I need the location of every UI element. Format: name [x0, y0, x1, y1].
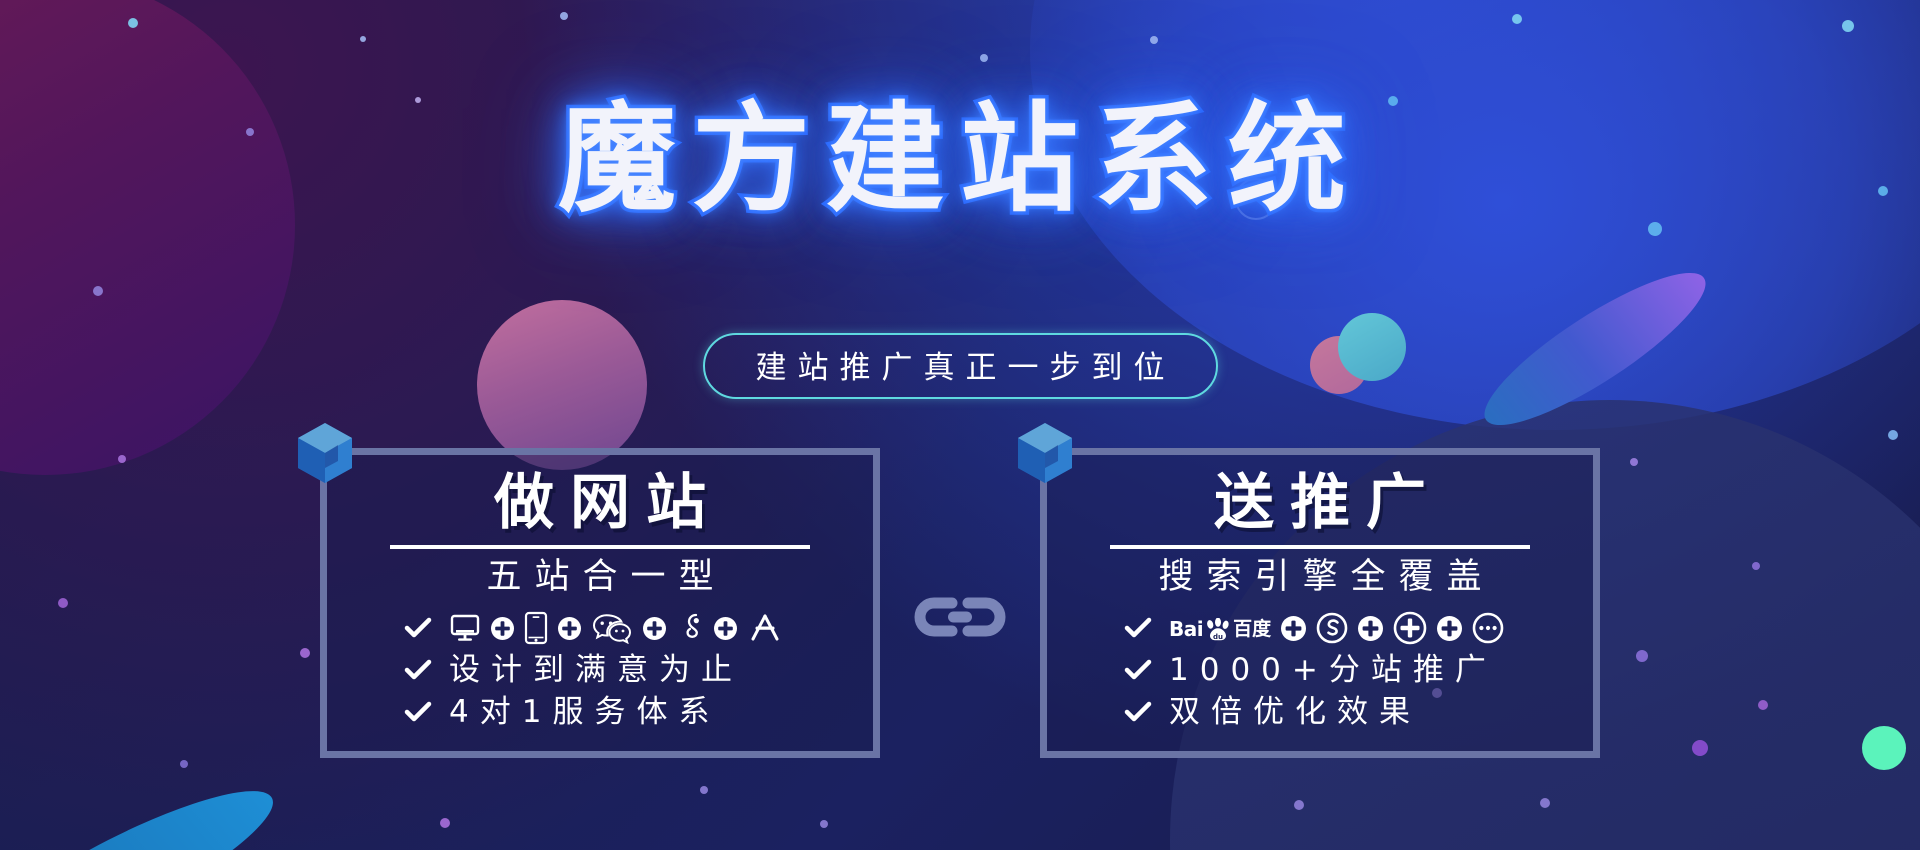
star-dot — [128, 18, 138, 28]
ellipsis-more-icon — [1472, 612, 1504, 644]
card-slot-free-promotion: 送推广 搜索引擎全覆盖 Bai — [1040, 448, 1600, 758]
check-icon — [403, 697, 433, 727]
check-icon — [1123, 697, 1153, 727]
star-dot — [700, 786, 708, 794]
card-title-make-website: 做网站 — [327, 471, 873, 536]
card-rows-make-website: 设计到满意为止 4对1服务体系 — [327, 607, 873, 733]
card-subtitle-make-website: 五站合一型 — [327, 557, 873, 597]
plus-icon — [557, 616, 582, 641]
star-dot — [820, 820, 828, 828]
row-platform-icons — [327, 607, 873, 649]
plus-icon — [490, 616, 515, 641]
bullet-text: 4对1服务体系 — [449, 697, 720, 728]
blue-comet-streak — [0, 765, 289, 850]
svg-text:du: du — [1213, 633, 1223, 641]
baidu-hanzi-text: 百度 — [1233, 620, 1271, 639]
plus-icon — [1436, 615, 1463, 642]
baidu-paw-icon: du — [1205, 618, 1231, 642]
star-dot — [1888, 430, 1898, 440]
check-icon — [403, 655, 433, 685]
promo-banner: 魔方建站系统 建站推广真正一步到位 做网站 五站合一型 — [0, 0, 1920, 850]
check-icon — [1123, 655, 1153, 685]
star-dot — [360, 36, 366, 42]
plus-icon — [642, 616, 667, 641]
star-dot — [560, 12, 568, 20]
plus-icon — [713, 616, 738, 641]
mobile-phone-icon — [524, 611, 548, 645]
wechat-icon — [591, 612, 633, 644]
feature-cards: 做网站 五站合一型 — [0, 448, 1920, 758]
search-engine-icon-group: Bai du 百度 — [1169, 611, 1504, 645]
plus-icon — [1280, 615, 1307, 642]
card-title-underline — [390, 545, 810, 549]
app-store-icon — [747, 612, 783, 644]
star-dot — [1512, 14, 1522, 24]
subtitle-pill: 建站推广真正一步到位 — [703, 333, 1218, 399]
bullet-row: 1000+分站推广 — [1047, 649, 1593, 691]
card-title-free-promotion: 送推广 — [1047, 471, 1593, 536]
bullet-row: 设计到满意为止 — [327, 649, 873, 691]
title-block: 魔方建站系统 — [0, 92, 1920, 227]
row-search-engine-icons: Bai du 百度 — [1047, 607, 1593, 649]
card-subtitle-free-promotion: 搜索引擎全覆盖 — [1047, 557, 1593, 597]
star-dot — [1150, 36, 1158, 44]
bullet-text: 设计到满意为止 — [449, 655, 743, 686]
mini-program-icon — [676, 611, 704, 645]
star-dot — [1294, 800, 1304, 810]
star-dot — [1842, 20, 1854, 32]
card-slot-make-website: 做网站 五站合一型 — [320, 448, 880, 758]
bullet-row: 4对1服务体系 — [327, 691, 873, 733]
star-dot — [1540, 798, 1550, 808]
card-make-website[interactable]: 做网站 五站合一型 — [320, 448, 880, 758]
subtitle-block: 建站推广真正一步到位 — [0, 333, 1920, 399]
bullet-row: 双倍优化效果 — [1047, 691, 1593, 733]
card-rows-free-promotion: Bai du 百度 — [1047, 607, 1593, 733]
baidu-logo-icon: Bai du 百度 — [1169, 618, 1271, 639]
circle-plus-360-icon — [1393, 611, 1427, 645]
baidu-latin-text: Bai — [1169, 619, 1203, 639]
desktop-monitor-icon — [449, 612, 481, 644]
check-icon — [403, 613, 433, 643]
star-dot — [93, 286, 103, 296]
main-title: 魔方建站系统 — [558, 92, 1362, 227]
card-free-promotion[interactable]: 送推广 搜索引擎全覆盖 Bai — [1040, 448, 1600, 758]
card-title-underline — [1110, 545, 1530, 549]
bullet-text: 1000+分站推广 — [1169, 655, 1497, 686]
bullet-text: 双倍优化效果 — [1169, 697, 1421, 728]
chain-link-icon — [908, 590, 1012, 644]
star-dot — [980, 54, 988, 62]
plus-icon — [1357, 615, 1384, 642]
sogou-s-icon — [1316, 612, 1348, 644]
star-dot — [180, 760, 188, 768]
platform-icon-group — [449, 611, 783, 645]
check-icon — [1123, 613, 1153, 643]
purple-circle-top-left — [0, 0, 295, 475]
star-dot — [440, 818, 450, 828]
